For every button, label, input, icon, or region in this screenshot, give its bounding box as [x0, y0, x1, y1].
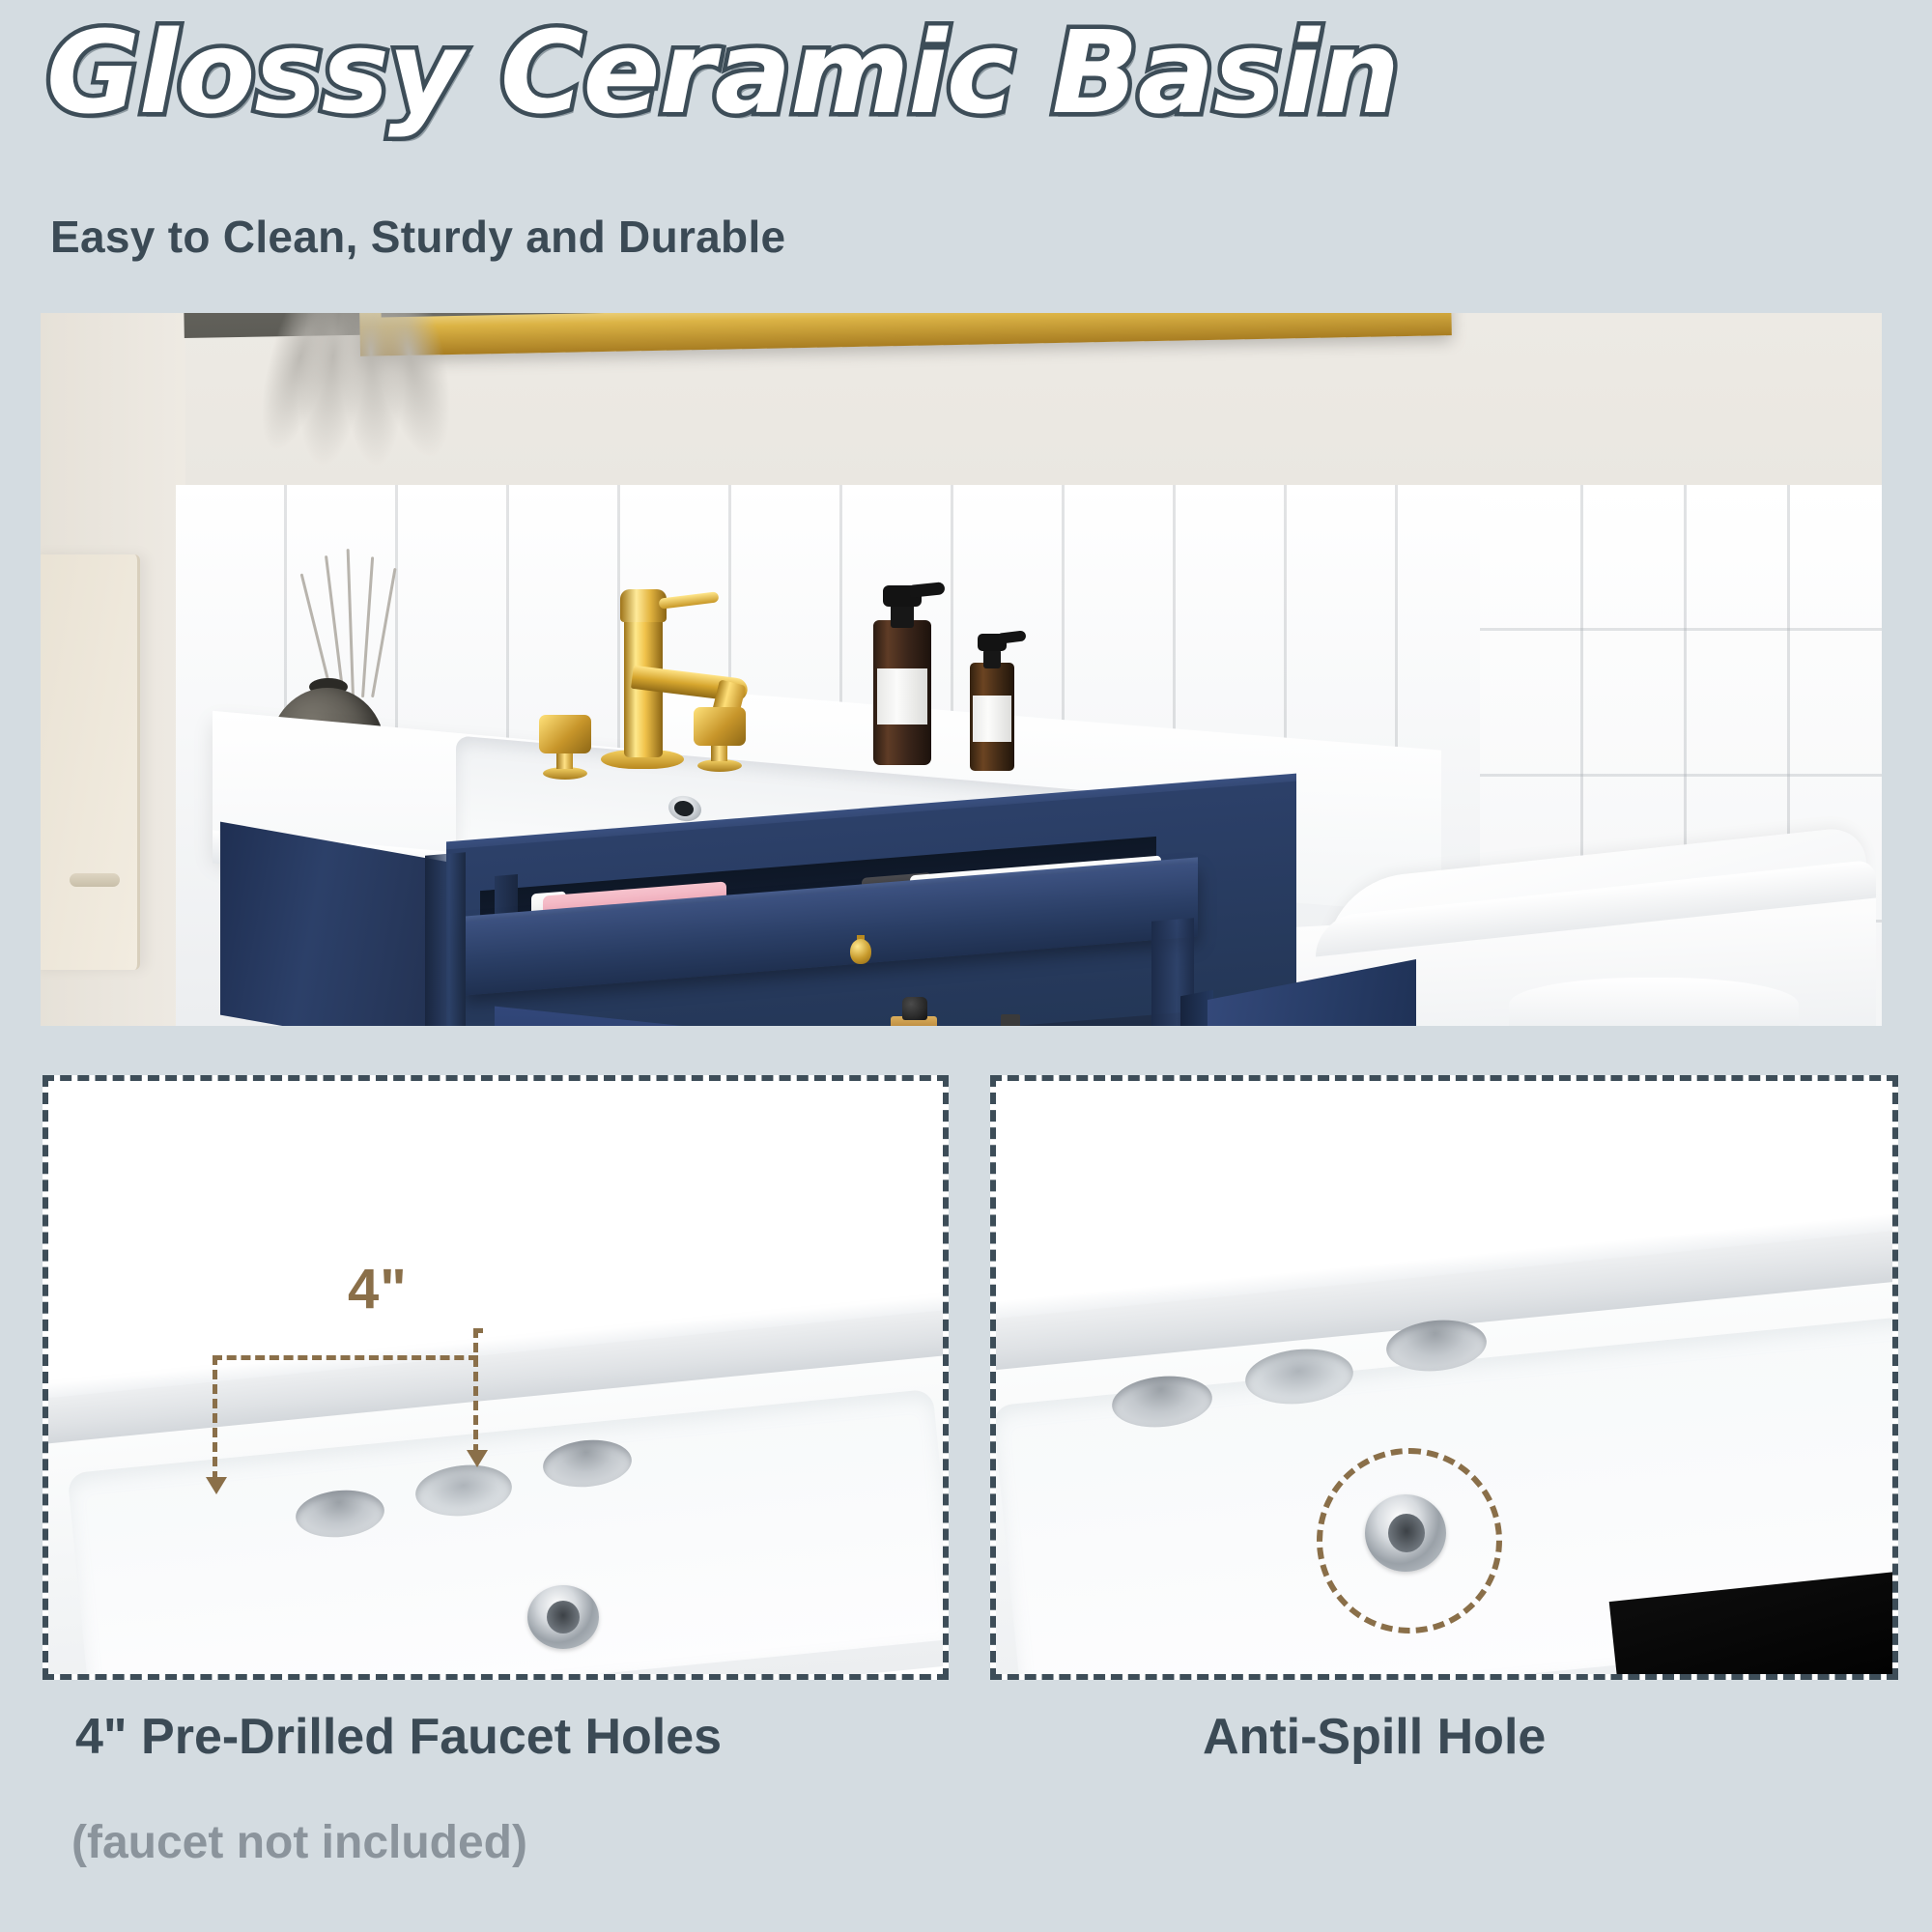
- dimension-arrow-right: [467, 1450, 488, 1467]
- faucet-handle-right: [694, 707, 746, 746]
- soap-bottle-large-label: [877, 668, 927, 724]
- detail-panel-faucet-holes: 4": [43, 1075, 949, 1680]
- dimension-arrow-left: [206, 1477, 227, 1494]
- anti-spill-hole-inner: [1388, 1514, 1425, 1552]
- caption-faucet-holes: 4" Pre-Drilled Faucet Holes: [75, 1708, 722, 1766]
- overflow-drain-inner: [547, 1601, 580, 1634]
- drawer-knob-icon[interactable]: [850, 939, 871, 964]
- page-subtitle: Easy to Clean, Sturdy and Durable: [50, 211, 785, 263]
- glass-jar-knob: [902, 997, 927, 1020]
- dimension-label: 4": [348, 1257, 408, 1321]
- vanity-column-left: [425, 852, 466, 1026]
- dimension-bracket-top: [213, 1355, 478, 1360]
- hero-product-photo: SEBASTIAN SHAPER PLUS SNVNS: [41, 313, 1882, 1026]
- soap-bottle-small-neck: [983, 649, 1001, 668]
- detail-panel-anti-spill: [990, 1075, 1898, 1680]
- caption-anti-spill: Anti-Spill Hole: [1203, 1708, 1546, 1766]
- soap-bottle-small-label: [973, 696, 1011, 742]
- dimension-bracket-right-top: [473, 1328, 483, 1333]
- dimension-bracket-left: [213, 1355, 217, 1481]
- dimension-bracket-right: [473, 1328, 478, 1454]
- door-panel: [41, 554, 140, 970]
- caption-faucet-note: (faucet not included): [71, 1816, 527, 1869]
- toilet: [1509, 978, 1799, 1026]
- header: Glossy Ceramic Basin Easy to Clean, Stur…: [0, 0, 1932, 313]
- black-tube-cap: [1001, 1014, 1020, 1026]
- faucet-handle-left: [539, 715, 591, 753]
- door-handle: [70, 873, 120, 887]
- page-title: Glossy Ceramic Basin: [46, 15, 1399, 129]
